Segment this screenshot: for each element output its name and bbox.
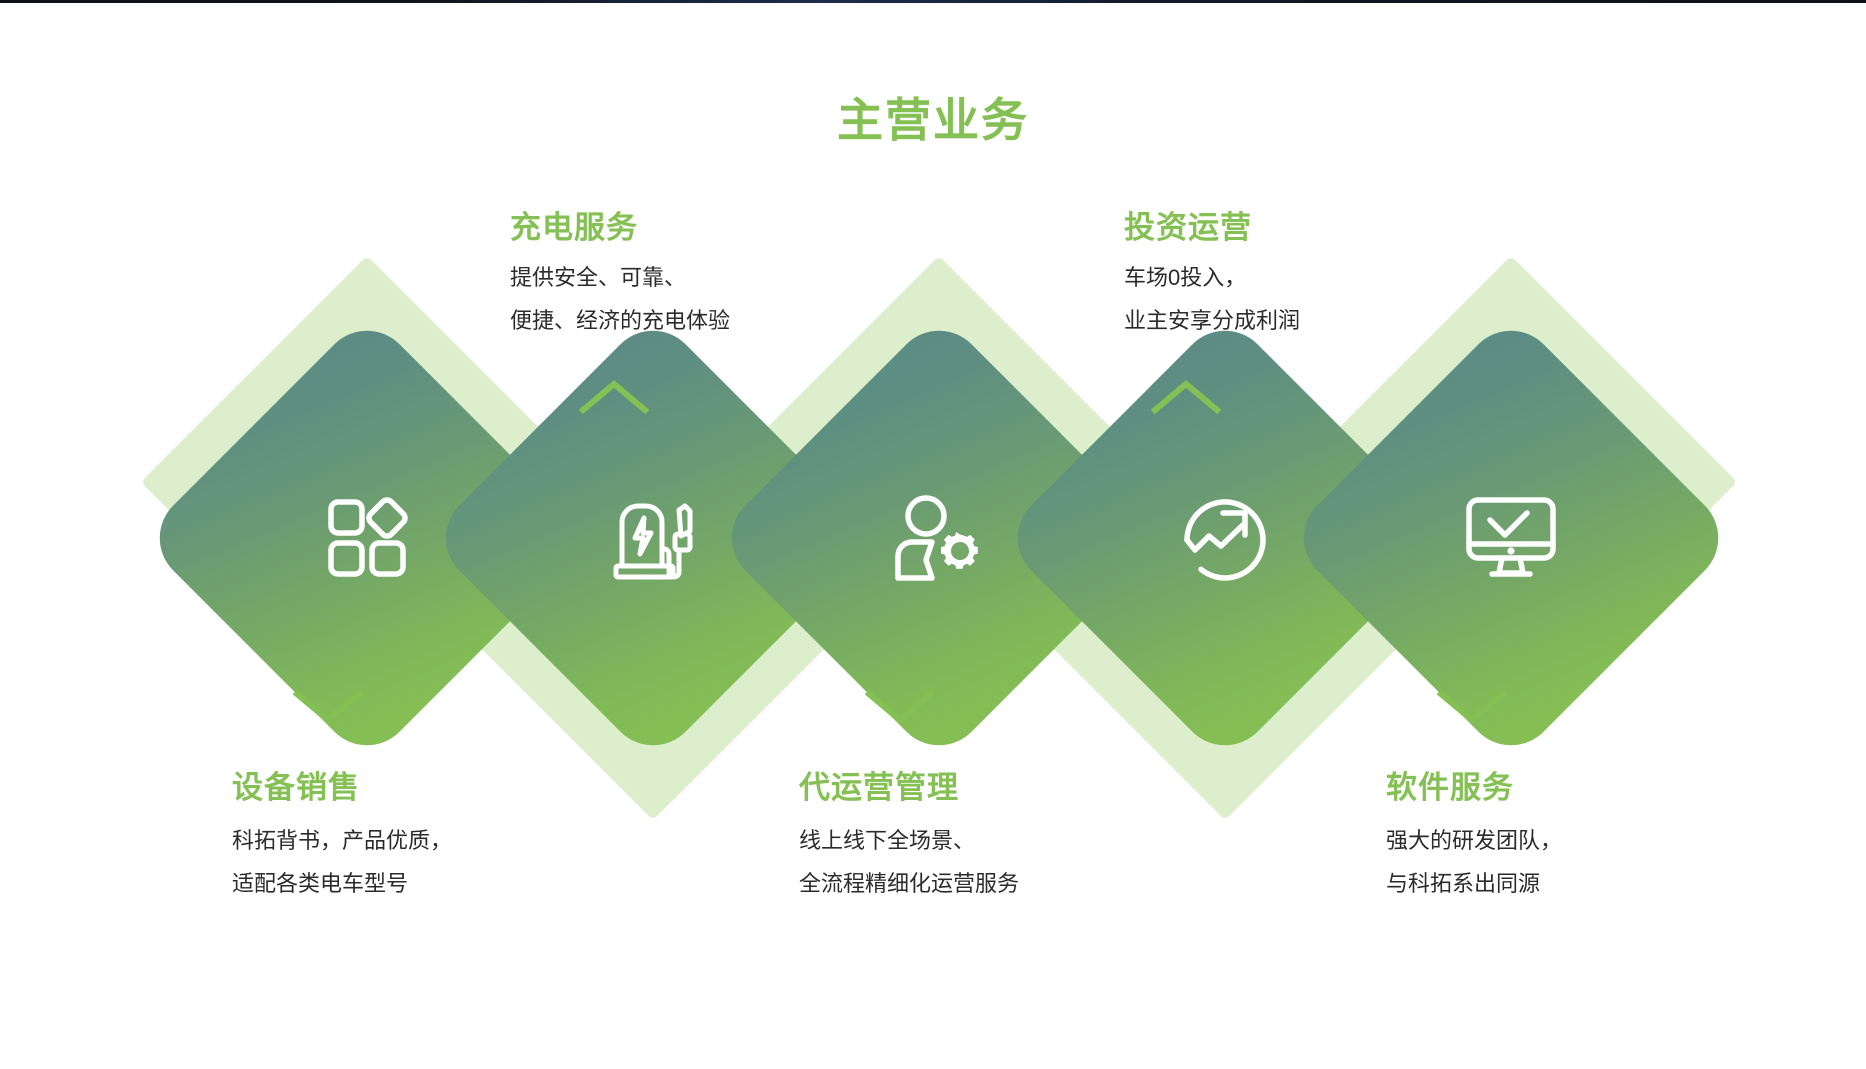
item-line: 强大的研发团队，: [1386, 820, 1562, 863]
item-heading: 代运营管理: [799, 769, 1019, 808]
item-line: 科拓背书，产品优质，: [232, 820, 452, 863]
business-card-software-service[interactable]: [1351, 378, 1671, 698]
item-heading: 软件服务: [1386, 769, 1562, 808]
item-line: 线上线下全场景、: [799, 820, 1019, 863]
top-edge-rule: [0, 0, 1866, 3]
charging-station-icon: [493, 378, 813, 698]
chevron-up-icon: [1150, 378, 1222, 416]
page-title: 主营业务: [0, 84, 1866, 150]
item-line: 与科拓系出同源: [1386, 863, 1562, 906]
business-card-operation-management[interactable]: [779, 378, 1099, 698]
text-block-operation-management: 代运营管理 线上线下全场景、 全流程精细化运营服务: [799, 769, 1019, 906]
text-block-software-service: 软件服务 强大的研发团队， 与科拓系出同源: [1386, 769, 1562, 906]
business-card-charging-service[interactable]: [493, 378, 813, 698]
diamond-row: [0, 378, 1866, 698]
text-block-equipment-sales: 设备销售 科拓背书，产品优质， 适配各类电车型号: [232, 769, 452, 906]
item-heading: 充电服务: [510, 209, 730, 248]
chevron-up-icon: [578, 378, 650, 416]
app-grid-icon: [207, 378, 527, 698]
chevron-down-icon: [864, 688, 936, 726]
item-line: 适配各类电车型号: [232, 863, 452, 906]
user-gear-icon: [779, 378, 1099, 698]
item-line: 便捷、经济的充电体验: [510, 300, 730, 343]
chevron-down-icon: [292, 688, 364, 726]
text-block-charging-service: 充电服务 提供安全、可靠、 便捷、经济的充电体验: [510, 209, 730, 343]
business-card-investment-operation[interactable]: [1065, 378, 1385, 698]
chevron-down-icon: [1436, 688, 1508, 726]
item-line: 提供安全、可靠、: [510, 257, 730, 300]
monitor-check-icon: [1351, 378, 1671, 698]
item-line: 车场0投入，: [1124, 257, 1300, 300]
trend-up-circle-icon: [1065, 378, 1385, 698]
text-block-investment-operation: 投资运营 车场0投入， 业主安享分成利润: [1124, 209, 1300, 343]
business-card-equipment-sales[interactable]: [207, 378, 527, 698]
item-heading: 设备销售: [232, 769, 452, 808]
item-line: 全流程精细化运营服务: [799, 863, 1019, 906]
item-heading: 投资运营: [1124, 209, 1300, 248]
